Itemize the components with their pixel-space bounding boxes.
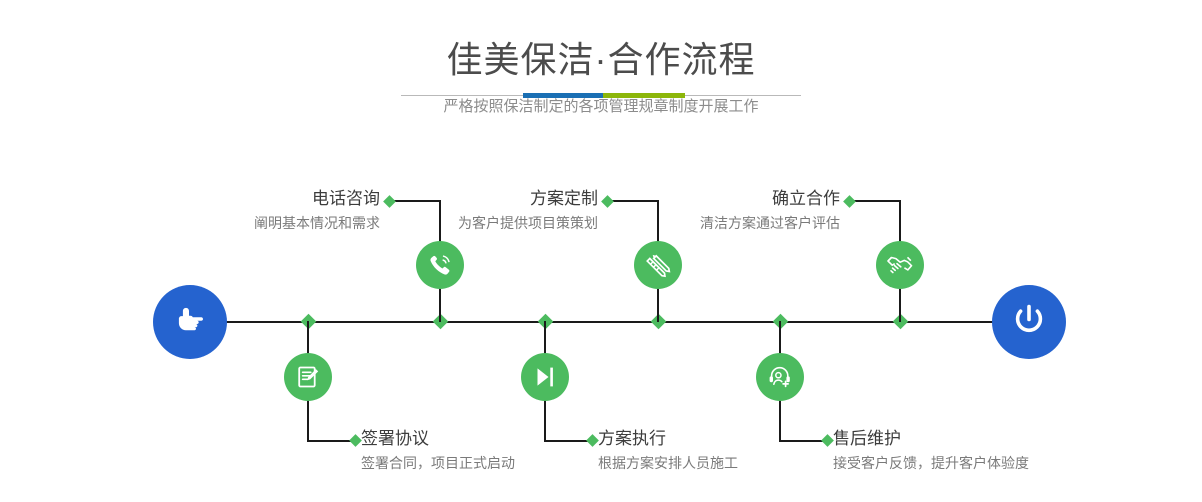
step-desc-4: 根据方案安排人员施工 <box>598 453 738 473</box>
step-label-2: 签署协议 签署合同，项目正式启动 <box>361 428 515 473</box>
process-timeline: 电话咨询 阐明基本情况和需求 签署协议 签署合同，项目正式启动 <box>0 0 1202 502</box>
label-marker-step-2 <box>349 434 362 447</box>
label-marker-step-6 <box>821 434 834 447</box>
step-icon-node-3 <box>634 241 682 289</box>
step-desc-5: 清洁方案通过客户评估 <box>640 213 840 233</box>
connector-hline-step-6 <box>779 440 827 442</box>
step-title-4: 方案执行 <box>598 428 738 450</box>
step-title-2: 签署协议 <box>361 428 515 450</box>
label-marker-step-5 <box>843 195 856 208</box>
label-marker-step-1 <box>383 195 396 208</box>
pencil-ruler-icon <box>644 251 672 279</box>
phone-call-icon <box>426 251 454 279</box>
step-label-4: 方案执行 根据方案安排人员施工 <box>598 428 738 473</box>
timeline-start-node <box>153 285 227 359</box>
step-label-6: 售后维护 接受客户反馈，提升客户体验度 <box>833 428 1029 473</box>
step-desc-2: 签署合同，项目正式启动 <box>361 453 515 473</box>
flow-diagram-page: 佳美保洁·合作流程 严格按照保洁制定的各项管理规章制度开展工作 <box>0 0 1202 502</box>
connector-hline-step-5 <box>851 200 900 202</box>
power-icon <box>1008 299 1050 346</box>
step-title-1: 电话咨询 <box>180 188 380 210</box>
step-label-3: 方案定制 为客户提供项目策策划 <box>400 188 598 233</box>
step-desc-3: 为客户提供项目策策划 <box>400 213 598 233</box>
step-icon-node-5 <box>876 241 924 289</box>
timeline-end-node <box>992 285 1066 359</box>
connector-hline-step-2 <box>307 440 355 442</box>
play-next-icon <box>531 363 559 391</box>
step-label-5: 确立合作 清洁方案通过客户评估 <box>640 188 840 233</box>
label-marker-step-3 <box>601 195 614 208</box>
label-marker-step-4 <box>586 434 599 447</box>
step-title-6: 售后维护 <box>833 428 1029 450</box>
step-title-3: 方案定制 <box>400 188 598 210</box>
step-title-5: 确立合作 <box>640 188 840 210</box>
step-desc-6: 接受客户反馈，提升客户体验度 <box>833 453 1029 473</box>
connector-hline-step-4 <box>544 440 592 442</box>
handshake-icon <box>885 250 915 280</box>
step-desc-1: 阐明基本情况和需求 <box>180 213 380 233</box>
step-icon-node-4 <box>521 353 569 401</box>
step-icon-node-2 <box>284 353 332 401</box>
pointing-hand-icon <box>170 300 210 345</box>
step-label-1: 电话咨询 阐明基本情况和需求 <box>180 188 380 233</box>
step-icon-node-6 <box>756 353 804 401</box>
support-agent-icon <box>766 363 794 391</box>
step-icon-node-1 <box>416 241 464 289</box>
document-edit-icon <box>294 363 322 391</box>
